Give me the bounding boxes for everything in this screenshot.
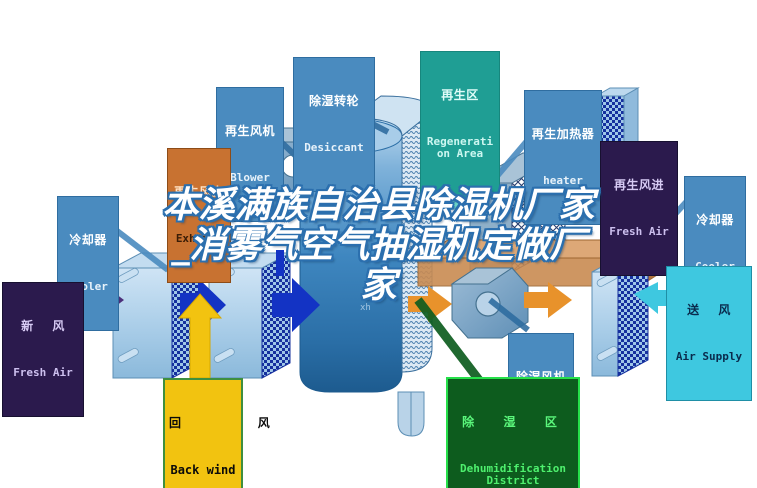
label-regen-blower-cn: 再生风机 [221,125,279,138]
label-back-wind[interactable]: 回 风 Back wind [163,378,243,488]
label-fresh-air-cn: 新 风 [7,320,79,333]
arrow-blower-to-coil [524,282,572,318]
label-back-wind-en: Back wind [169,464,237,477]
label-air-supply-en: Air Supply [671,351,747,363]
label-exhaust-en: Exhaust [172,233,226,245]
label-exhaust[interactable]: 再生风出 Exhaust [167,148,231,283]
label-regen-fresh-air-cn: 再生风进 [605,179,673,192]
label-regen-heater[interactable]: 再生加热器 heater [524,90,602,225]
label-fresh-air-en: Fresh Air [7,367,79,379]
label-dehumidification-district-en: Dehumidification District [452,463,574,487]
label-back-wind-cn: 回 风 [169,417,237,430]
label-desiccant[interactable]: 除湿转轮 Desiccant [293,57,375,192]
label-desiccant-cn: 除湿转轮 [298,95,370,108]
label-air-supply[interactable]: 送 风 Air Supply [666,266,752,401]
label-regen-heater-en: heater [529,175,597,187]
label-regeneration-area-en: Regenerati on Area [425,136,495,160]
label-fresh-air[interactable]: 新 风 Fresh Air [2,282,84,417]
label-air-supply-cn: 送 风 [671,304,747,317]
label-regeneration-area[interactable]: 再生区 Regenerati on Area [420,51,500,198]
arrow-duct-down [276,250,284,276]
label-exhaust-cn: 再生风出 [172,186,226,199]
label-cooler-right-cn: 冷却器 [689,214,741,227]
rotor-watermark-text: xh [360,303,371,313]
label-cooler-left-cn: 冷却器 [62,234,114,247]
label-desiccant-en: Desiccant [298,142,370,154]
label-regen-fresh-air-en: Fresh Air [605,226,673,238]
diagram-canvas: xh 除湿转轮 Desiccant 再生风机 Blower 再生区 Regene… [0,0,757,488]
label-regen-fresh-air[interactable]: 再生风进 Fresh Air [600,141,678,276]
label-regen-heater-cn: 再生加热器 [529,128,597,141]
label-dehumidification-district-cn: 除 湿 区 [452,416,574,429]
label-dehumidification-district[interactable]: 除 湿 区 Dehumidification District [446,377,580,488]
label-regeneration-area-cn: 再生区 [425,89,495,102]
